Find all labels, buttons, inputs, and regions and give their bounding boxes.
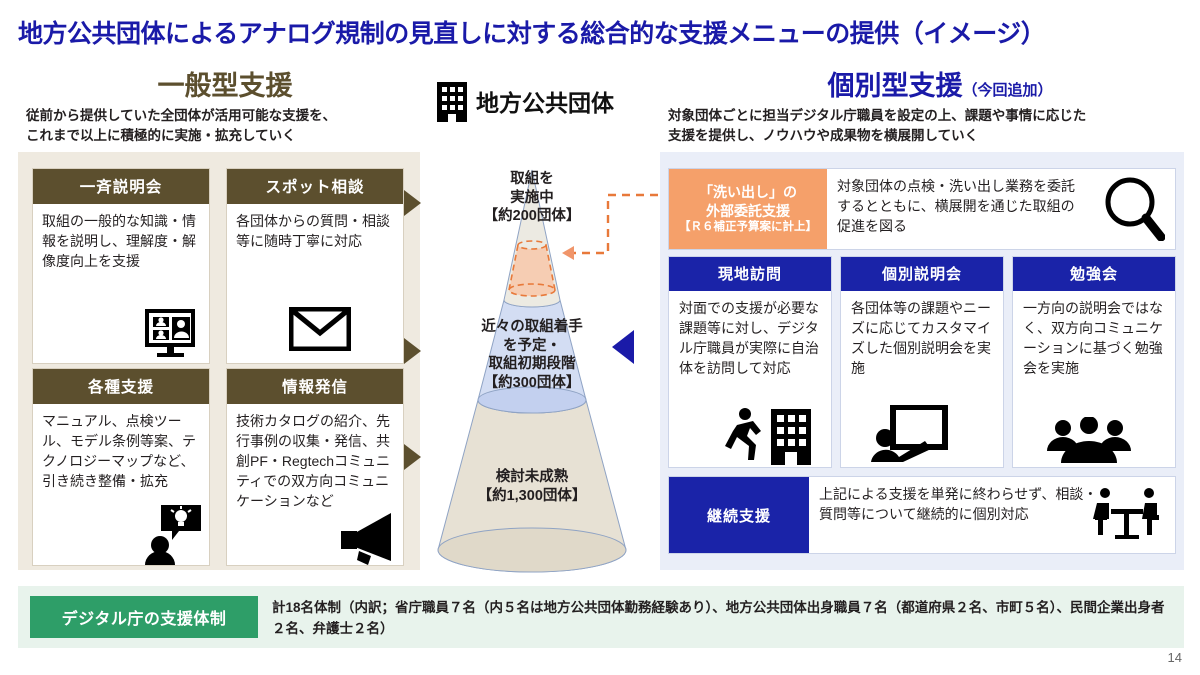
funnel-tier-2-count: 【約300団体】 [484, 375, 581, 391]
individual-support-heading: 個別型支援（今回追加） [780, 64, 1100, 103]
video-meeting-icon [143, 309, 199, 359]
arrow-individual-to-center [612, 330, 634, 364]
person-idea-icon [143, 503, 203, 565]
envelope-icon [289, 307, 351, 351]
megaphone-icon [335, 509, 399, 565]
card-benkyoukai[interactable]: 勉強会 一方向の説明会ではなく、双方向コミュニケーションに基づく勉強会を実施 [1012, 256, 1176, 468]
magnifier-icon [1103, 175, 1165, 241]
individual-support-heading-main: 個別型支援 [827, 71, 962, 101]
individual-support-subtitle: 対象団体ごとに担当デジタル庁職員を設定の上、課題や事情に応じた 支援を提供し、ノ… [668, 106, 1188, 145]
running-person-building-icon [723, 405, 819, 465]
funnel-tier-2-label: 近々の取組着手 を予定・ 取組初期段階 [481, 319, 583, 372]
card-body-text: 対面での支援が必要な課題等に対し、デジタル庁職員が実際に自治体を訪問して対応 [679, 300, 819, 376]
card-title: 勉強会 [1013, 257, 1175, 291]
card-body: 一方向の説明会ではなく、双方向コミュニケーションに基づく勉強会を実施 [1013, 291, 1175, 469]
page-title: 地方公共団体によるアナログ規制の見直しに対する総合的な支援メニューの提供（イメー… [18, 14, 1183, 50]
card-title: 現地訪問 [669, 257, 831, 291]
page-number: 14 [1168, 650, 1182, 665]
card-body-text: 上記による支援を単発に終わらせず、相談・質問等について継続的に個別対応 [819, 485, 1099, 525]
support-structure-text: 計18名体制（内訳；省庁職員７名（内５名は地方公共団体勤務経験あり）、地方公共団… [272, 598, 1172, 640]
support-structure-tag: デジタル庁の支援体制 [30, 596, 258, 638]
card-kobetsu-setsumeikai[interactable]: 個別説明会 各団体等の課題やニーズに応じてカスタマイズした個別説明会を実施 [840, 256, 1004, 468]
card-body-text: マニュアル、点検ツール、モデル条例等案、テクノロジーマップなど、引き続き整備・拡… [42, 413, 196, 489]
card-budget-note: 【Ｒ６補正予算案に計上】 [669, 220, 827, 235]
card-body-text: 技術カタログの紹介、先行事例の収集・発信、共創PF・Regtechコミュニティで… [236, 413, 390, 509]
card-body-text: 一方向の説明会ではなく、双方向コミュニケーションに基づく勉強会を実施 [1023, 300, 1163, 376]
card-body-text: 各団体からの質問・相談等に随時丁寧に対応 [236, 213, 390, 249]
office-building-icon [434, 78, 470, 122]
card-body: 各団体等の課題やニーズに応じてカスタマイズした個別説明会を実施 [841, 291, 1003, 469]
card-ikkatsu-setsumeikai[interactable]: 一斉説明会 取組の一般的な知識・情報を説明し、理解度・解像度向上を支援 [32, 168, 210, 364]
card-kakushu-shien[interactable]: 各種支援 マニュアル、点検ツール、モデル条例等案、テクノロジーマップなど、引き続… [32, 368, 210, 566]
card-gaibu-itaku-shien[interactable]: 「洗い出し」の 外部委託支援 【Ｒ６補正予算案に計上】 対象団体の点検・洗い出し… [668, 168, 1176, 250]
card-title-block: 「洗い出し」の 外部委託支援 【Ｒ６補正予算案に計上】 [669, 169, 827, 249]
general-support-heading: 一般型支援 [110, 64, 340, 103]
card-title: 個別説明会 [841, 257, 1003, 291]
card-body-text: 各団体等の課題やニーズに応じてカスタマイズした個別説明会を実施 [851, 300, 991, 376]
dashed-connector-outsource-to-funnel [540, 185, 675, 275]
group-people-icon [1043, 417, 1135, 465]
card-genchi-houmon[interactable]: 現地訪問 対面での支援が必要な課題等に対し、デジタル庁職員が実際に自治体を訪問し… [668, 256, 832, 468]
funnel-tier-3-count: 【約1,300団体】 [478, 488, 587, 504]
card-body: 上記による支援を単発に終わらせず、相談・質問等について継続的に個別対応 [809, 477, 1175, 553]
two-people-table-icon [1093, 485, 1161, 541]
card-jouhou-hasshin[interactable]: 情報発信 技術カタログの紹介、先行事例の収集・発信、共創PF・Regtechコミ… [226, 368, 404, 566]
card-title: 一斉説明会 [33, 169, 209, 204]
center-building-label: 地方公共団体 [476, 84, 614, 118]
card-title: スポット相談 [227, 169, 403, 204]
card-body-text: 対象団体の点検・洗い出し業務を委託するとともに、横展開を通じた取組の促進を図る [837, 177, 1077, 237]
card-body-text: 取組の一般的な知識・情報を説明し、理解度・解像度向上を支援 [42, 213, 196, 269]
card-keizoku-shien[interactable]: 継続支援 上記による支援を単発に終わらせず、相談・質問等について継続的に個別対応 [668, 476, 1176, 554]
card-title: 各種支援 [33, 369, 209, 404]
card-title: 情報発信 [227, 369, 403, 404]
card-body: 対面での支援が必要な課題等に対し、デジタル庁職員が実際に自治体を訪問して対応 [669, 291, 831, 469]
card-body: 対象団体の点検・洗い出し業務を委託するとともに、横展開を通じた取組の促進を図る [827, 169, 1175, 249]
card-title: 「洗い出し」の 外部委託支援 [669, 183, 827, 219]
funnel-tier-3-label: 検討未成熟 [496, 469, 569, 485]
card-title: 継続支援 [669, 477, 809, 553]
presenter-board-icon [869, 405, 949, 463]
card-spot-soudan[interactable]: スポット相談 各団体からの質問・相談等に随時丁寧に対応 [226, 168, 404, 364]
funnel-tier-3: 検討未成熟 【約1,300団体】 [408, 468, 656, 505]
individual-support-heading-note: （今回追加） [962, 82, 1052, 99]
general-support-subtitle: 従前から提供していた全団体が活用可能な支援を、 これまで以上に積極的に実施・拡充… [26, 106, 416, 145]
